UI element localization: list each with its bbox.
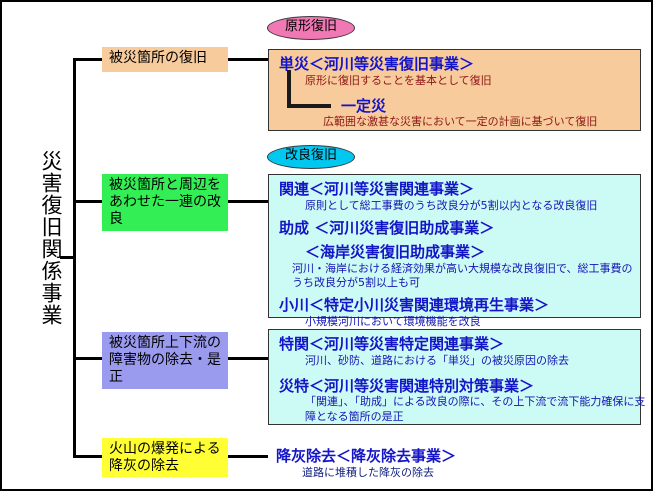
cat-label-obstacle: 被災箇所上下流の障害物の除去・是正: [109, 335, 221, 385]
cat-label-improvement: 被災箇所と周辺をあわせた一連の改良: [109, 177, 221, 227]
tag-genkei-fukkyu: 原形復旧: [267, 16, 355, 40]
program-title-josei: 助成 ＜河川災害復旧助成事業＞: [279, 220, 632, 238]
cat-box-restoration[interactable]: 被災箇所の復旧: [102, 47, 228, 72]
program-title-kaigan-josei: ＜海岸災害復旧助成事業＞: [279, 244, 632, 262]
cat-box-improvement[interactable]: 被災箇所と周辺をあわせた一連の改良: [102, 174, 228, 231]
root-title: 災害復旧関係事業: [28, 150, 62, 326]
program-title-tokkan: 特関＜河川等災害特定関連事業＞: [279, 336, 632, 354]
program-title-itteisai: 一定災: [279, 98, 632, 116]
elbow-horizontal-line: [287, 104, 331, 108]
cat-label-restoration: 被災箇所の復旧: [109, 50, 207, 66]
program-title-ogawa: 小川＜特定小川災害関連環境再生事業＞: [279, 297, 632, 315]
tag-kairyo-label: 改良復旧: [285, 148, 337, 163]
connector-line-1: [226, 58, 268, 61]
branch-line-4: [73, 455, 105, 458]
cat-box-obstacle[interactable]: 被災箇所上下流の障害物の除去・是正: [102, 332, 228, 389]
program-desc-tokkan: 河川、砂防、道路における「単災」の被災原因の除去: [279, 354, 632, 368]
panel-obstacle: 特関＜河川等災害特定関連事業＞ 河川、砂防、道路における「単災」の被災原因の除去…: [268, 329, 641, 425]
program-title-kouhai: 降灰除去＜降灰除去事業＞: [276, 448, 633, 466]
program-desc-kouhai: 道路に堆積した降灰の除去: [276, 466, 633, 480]
connector-line-3: [226, 357, 268, 360]
program-desc-saitoku: 「関連」、「助成」による改良の際に、その上下流で流下能力確保に支障となる箇所の是…: [279, 395, 650, 423]
program-desc-ogawa: 小規模河川において環境機能を改良: [279, 315, 632, 329]
program-title-kanren: 関連＜河川等災害関連事業＞: [279, 181, 632, 199]
cat-box-ashfall[interactable]: 火山の爆発による降灰の除去: [102, 438, 228, 477]
program-desc-kaigan-josei: 河川・海岸における経済効果が高い大規模な改良復旧で、総工事費のうち改良分が5割以…: [279, 262, 642, 290]
diagram-canvas: 災害復旧関係事業 被災箇所の復旧 被災箇所と周辺をあわせた一連の改良 被災箇所上…: [0, 0, 653, 491]
panel-restoration: 単災＜河川等災害復旧事業＞ 原形に復旧することを基本として復旧 一定災 広範囲な…: [268, 49, 641, 131]
panel-ashfall: 降灰除去＜降灰除去事業＞ 道路に堆積した降灰の除去: [268, 442, 641, 487]
program-desc-tansai: 原形に復旧することを基本として復旧: [279, 74, 632, 88]
branch-line-1: [73, 58, 105, 61]
program-title-saitoku: 災特＜河川等災害関連特別対策事業＞: [279, 378, 632, 396]
tag-genkei-label: 原形復旧: [285, 19, 337, 34]
panel-improvement: 関連＜河川等災害関連事業＞ 原則として総工事費のうち改良分が5割以内となる改良復…: [268, 174, 641, 318]
tag-kairyo-fukkyu: 改良復旧: [267, 145, 355, 169]
elbow-vertical-line: [287, 70, 291, 108]
cat-label-ashfall: 火山の爆発による降灰の除去: [109, 441, 221, 474]
root-stub-line: [60, 256, 74, 259]
connector-line-4: [226, 455, 268, 458]
program-desc-itteisai: 広範囲な激甚な災害において一定の計画に基づいて復旧: [279, 115, 632, 129]
program-desc-kanren: 原則として総工事費のうち改良分が5割以内となる改良復旧: [279, 199, 632, 213]
connector-line-2: [226, 200, 268, 203]
branch-line-3: [73, 357, 105, 360]
branch-line-2: [73, 200, 105, 203]
program-title-tansai: 単災＜河川等災害復旧事業＞: [279, 56, 632, 74]
